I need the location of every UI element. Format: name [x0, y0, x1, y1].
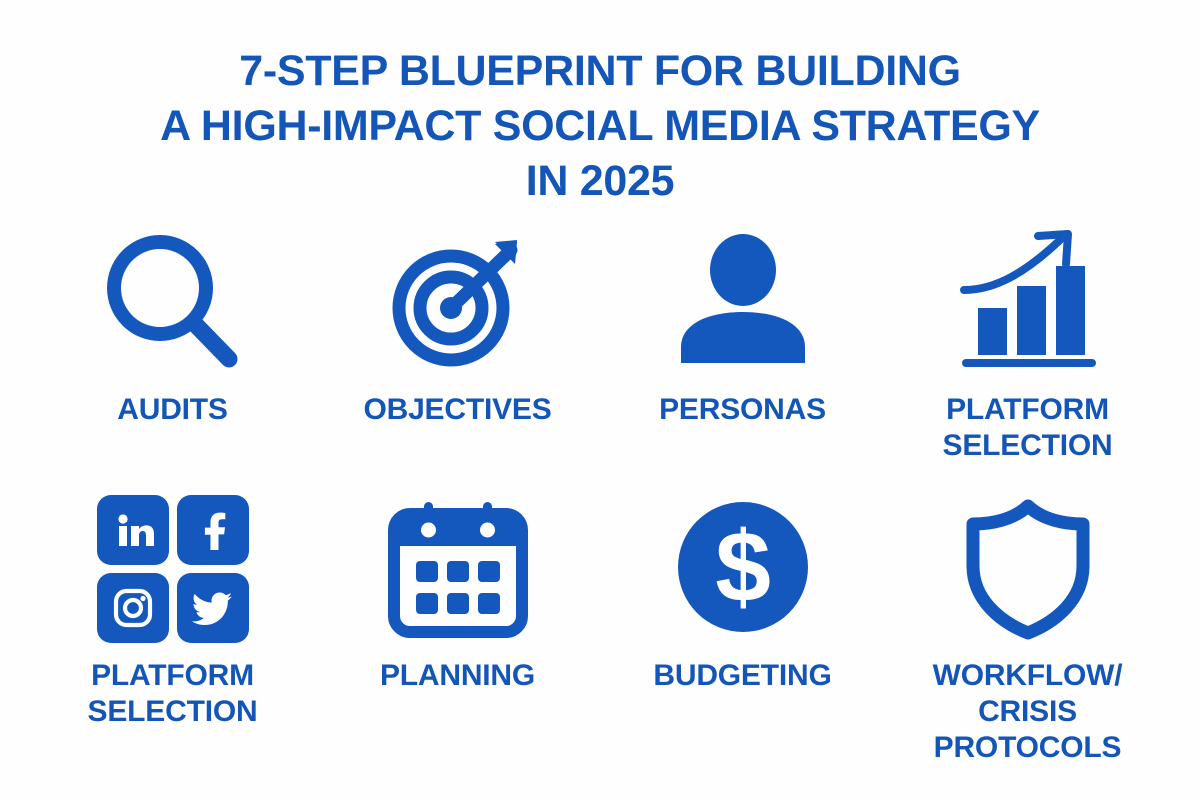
steps-grid: AUDITS OBJECTIVES — [30, 228, 1170, 752]
step-label: PERSONAS — [659, 392, 826, 428]
step-label: BUDGETING — [653, 658, 831, 694]
shield-icon — [948, 494, 1108, 644]
step-label: AUDITS — [117, 392, 227, 428]
magnifying-glass-icon — [93, 228, 253, 378]
title-line-1: 7-STEP BLUEPRINT FOR BUILDING — [0, 44, 1200, 99]
step-item-platform-selection-chart[interactable]: PLATFORM SELECTION — [885, 228, 1170, 486]
step-item-objectives[interactable]: OBJECTIVES — [315, 228, 600, 486]
step-label: OBJECTIVES — [363, 392, 551, 428]
twitter-icon[interactable] — [177, 573, 249, 643]
social-media-grid-icon — [93, 494, 253, 644]
step-item-platform-selection-social[interactable]: PLATFORM SELECTION — [30, 494, 315, 752]
dollar-circle-icon: $ — [663, 494, 823, 644]
step-item-personas[interactable]: PERSONAS — [600, 228, 885, 486]
title-line-2: A HIGH-IMPACT SOCIAL MEDIA STRATEGY — [0, 99, 1200, 154]
svg-text:$: $ — [715, 511, 771, 623]
step-label: PLANNING — [380, 658, 535, 694]
infographic-page: 7-STEP BLUEPRINT FOR BUILDING A HIGH-IMP… — [0, 0, 1200, 800]
page-title: 7-STEP BLUEPRINT FOR BUILDING A HIGH-IMP… — [0, 44, 1200, 209]
calendar-icon — [378, 494, 538, 644]
step-label: PLATFORM SELECTION — [88, 658, 258, 730]
step-item-planning[interactable]: PLANNING — [315, 494, 600, 752]
step-item-budgeting[interactable]: $ BUDGETING — [600, 494, 885, 752]
step-label: PLATFORM SELECTION — [943, 392, 1113, 464]
step-item-audits[interactable]: AUDITS — [30, 228, 315, 486]
facebook-icon[interactable] — [177, 495, 249, 565]
step-label: WORKFLOW/ CRISIS PROTOCOLS — [885, 658, 1170, 766]
title-line-3: IN 2025 — [0, 154, 1200, 209]
linkedin-icon[interactable] — [97, 495, 169, 565]
instagram-icon[interactable] — [97, 573, 169, 643]
social-grid — [97, 494, 249, 644]
step-item-workflow-crisis-protocols[interactable]: WORKFLOW/ CRISIS PROTOCOLS — [885, 494, 1170, 752]
person-icon — [663, 228, 823, 378]
target-bullseye-icon — [378, 228, 538, 378]
growth-bar-chart-icon — [948, 228, 1108, 378]
